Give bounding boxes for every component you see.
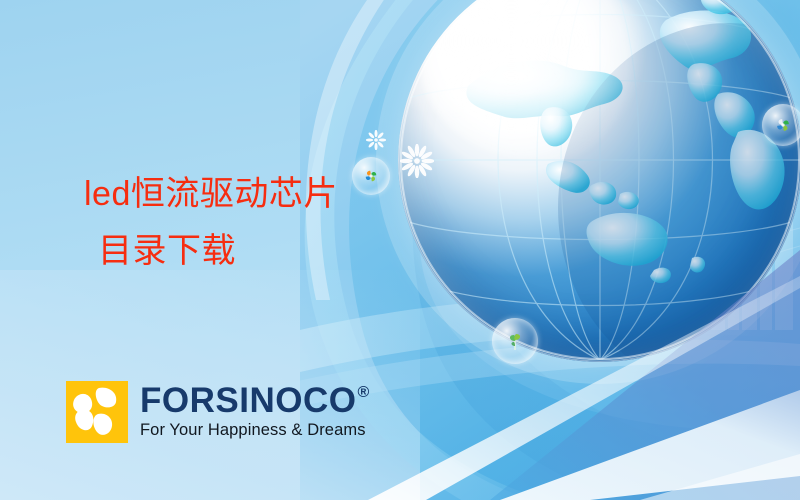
brand-name: FORSINOCO ® bbox=[140, 383, 370, 419]
headline-line-2: 目录下载 bbox=[84, 223, 444, 280]
brand-name-text: FORSINOCO bbox=[140, 383, 356, 419]
page-title: led恒流驱动芯片 目录下载 bbox=[84, 166, 444, 280]
bubble-pinwheel-right bbox=[762, 104, 800, 146]
brand-tagline: For Your Happiness & Dreams bbox=[140, 421, 370, 440]
brand-logo[interactable]: FORSINOCO ® For Your Happiness & Dreams bbox=[66, 381, 370, 443]
four-petal-flower-icon bbox=[66, 381, 128, 443]
pinwheel-icon bbox=[773, 115, 793, 135]
promo-banner: led恒流驱动芯片 目录下载 FORSINOCO ® For Your Happ… bbox=[0, 0, 800, 500]
bubble-pinwheel-middle bbox=[492, 318, 538, 364]
leaf-sprout-icon bbox=[503, 329, 527, 353]
headline-line-1: led恒流驱动芯片 bbox=[84, 175, 338, 213]
daisy-small bbox=[366, 130, 386, 150]
registered-trademark-icon: ® bbox=[357, 385, 369, 401]
